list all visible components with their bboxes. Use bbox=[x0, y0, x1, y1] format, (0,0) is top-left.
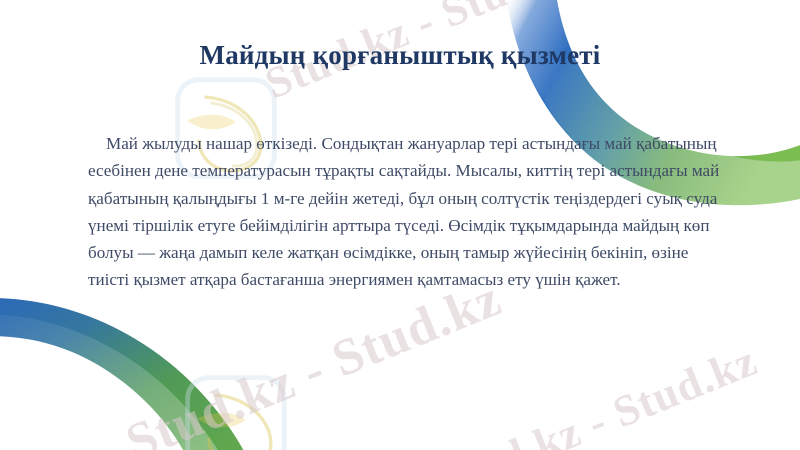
body-paragraph: Май жылуды нашар өткізеді. Сондықтан жан… bbox=[88, 130, 722, 294]
presentation-slide: Stud.kz - Stud.kz Stud.kz - Stud.kz Stud… bbox=[0, 0, 800, 450]
slide-content: Майдың қорғаныштық қызметі Май жылуды на… bbox=[0, 0, 800, 450]
slide-body: Май жылуды нашар өткізеді. Сондықтан жан… bbox=[88, 130, 722, 294]
slide-title: Майдың қорғаныштық қызметі bbox=[0, 41, 800, 71]
